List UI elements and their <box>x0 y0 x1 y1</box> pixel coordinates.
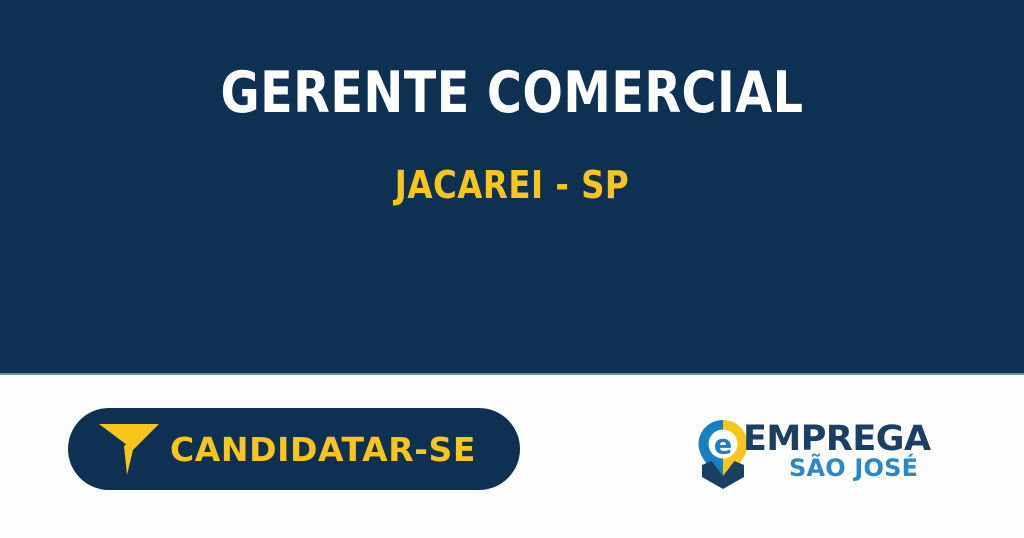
hero-banner: GERENTE COMERCIAL JACAREI - SP <box>0 0 1024 375</box>
brand-wordmark: EMPREGA SÃO JOSÉ <box>743 419 933 491</box>
apply-button-label: CANDIDATAR-SE <box>160 433 494 466</box>
brand-name: EMPREGA <box>743 421 931 457</box>
apply-button[interactable]: CANDIDATAR-SE <box>68 408 520 490</box>
brand-logo: e EMPREGA SÃO JOSÉ <box>697 419 929 491</box>
location-pin-e-icon: e <box>697 419 749 491</box>
send-paper-plane-icon <box>98 421 160 477</box>
svg-text:e: e <box>714 430 732 461</box>
job-location-label: JACAREI - SP <box>26 163 999 207</box>
job-vacancy-card: GERENTE COMERCIAL JACAREI - SP CANDIDATA… <box>0 0 1024 538</box>
brand-subtitle: SÃO JOSÉ <box>789 455 918 481</box>
page-title: GERENTE COMERCIAL <box>36 62 988 124</box>
